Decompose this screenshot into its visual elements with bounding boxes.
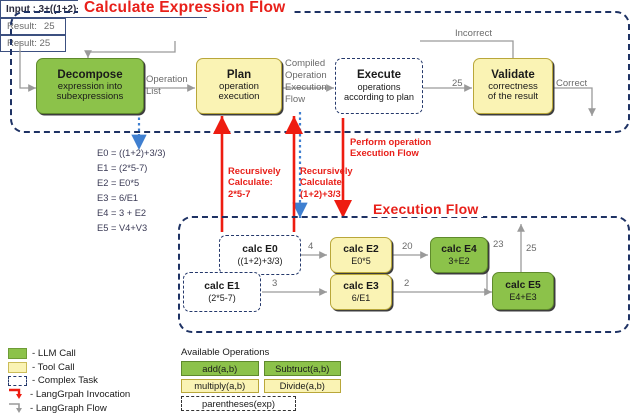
legend-item-langgraph-flow: - LangGraph Flow — [8, 401, 130, 415]
exec-edge-label-e5-result: 25 — [526, 243, 537, 255]
node-calc-e4-sub: 3+E2 — [448, 256, 469, 266]
operation-divide[interactable]: Divide(a,b) — [264, 379, 342, 394]
legend-item-complex-task-label: - Complex Task — [32, 375, 98, 386]
legend-item-tool-call: - Tool Call — [8, 361, 130, 375]
legend-item-langgraph-invocation-label: - LangGrpah Invocation — [30, 389, 130, 400]
operation-parentheses-label: parentheses(exp) — [202, 398, 275, 409]
node-calc-e3-title: calc E3 — [343, 281, 379, 293]
node-calc-e4-title: calc E4 — [441, 244, 477, 256]
available-operations-heading: Available Operations — [181, 347, 341, 358]
node-calc-e3-sub: 6/E1 — [352, 293, 371, 303]
operation-add[interactable]: add(a,b) — [181, 361, 259, 376]
yellow-square-icon — [8, 362, 27, 373]
node-calc-e2-sub: E0*5 — [351, 256, 371, 266]
legend: - LLM Call - Tool Call - Complex Task - … — [8, 347, 130, 415]
node-calc-e3[interactable]: calc E3 6/E1 — [330, 274, 392, 310]
available-operations: Available Operations add(a,b) Subtruct(a… — [181, 347, 341, 411]
node-calc-e4[interactable]: calc E4 3+E2 — [430, 237, 488, 273]
legend-item-complex-task: - Complex Task — [8, 374, 130, 388]
legend-item-llm-call: - LLM Call — [8, 347, 130, 361]
node-calc-e5-sub: E4+E3 — [509, 292, 536, 302]
node-calc-e1-title: calc E1 — [204, 281, 240, 293]
exec-edge-label-e4-e5: 23 — [493, 239, 504, 251]
green-square-icon — [8, 348, 27, 359]
legend-item-langgraph-flow-label: - LangGraph Flow — [30, 403, 107, 414]
dashed-square-icon — [8, 376, 27, 386]
red-arrow-icon — [8, 390, 25, 399]
operation-parentheses[interactable]: parentheses(exp) — [181, 396, 296, 411]
legend-item-tool-call-label: - Tool Call — [32, 362, 74, 373]
node-calc-e0-sub: ((1+2)+3/3) — [237, 256, 282, 266]
node-calc-e0[interactable]: calc E0 ((1+2)+3/3) — [219, 235, 301, 275]
legend-item-langgraph-invocation: - LangGrpah Invocation — [8, 388, 130, 402]
operation-multiply-label: multiply(a,b) — [194, 380, 245, 391]
node-calc-e5-title: calc E5 — [505, 280, 541, 292]
exec-edge-label-e1-e3: 3 — [272, 278, 277, 290]
operation-multiply[interactable]: multiply(a,b) — [181, 379, 259, 394]
operation-subtract[interactable]: Subtruct(a,b) — [264, 361, 342, 376]
exec-edge-label-e3-e5: 2 — [404, 278, 409, 290]
node-calc-e2[interactable]: calc E2 E0*5 — [330, 237, 392, 273]
legend-item-llm-call-label: - LLM Call — [32, 348, 76, 359]
operation-divide-label: Divide(a,b) — [280, 380, 325, 391]
node-calc-e1[interactable]: calc E1 (2*5-7) — [183, 272, 261, 312]
node-calc-e2-title: calc E2 — [343, 244, 379, 256]
gray-arrow-icon — [8, 404, 25, 413]
exec-edge-label-e2-e4: 20 — [402, 241, 413, 253]
node-calc-e1-sub: (2*5-7) — [208, 293, 236, 303]
node-calc-e5[interactable]: calc E5 E4+E3 — [492, 272, 554, 310]
operation-subtract-label: Subtruct(a,b) — [275, 363, 329, 374]
exec-edge-label-e0-e2: 4 — [308, 241, 313, 253]
operation-add-label: add(a,b) — [202, 363, 237, 374]
node-calc-e0-title: calc E0 — [242, 244, 278, 256]
